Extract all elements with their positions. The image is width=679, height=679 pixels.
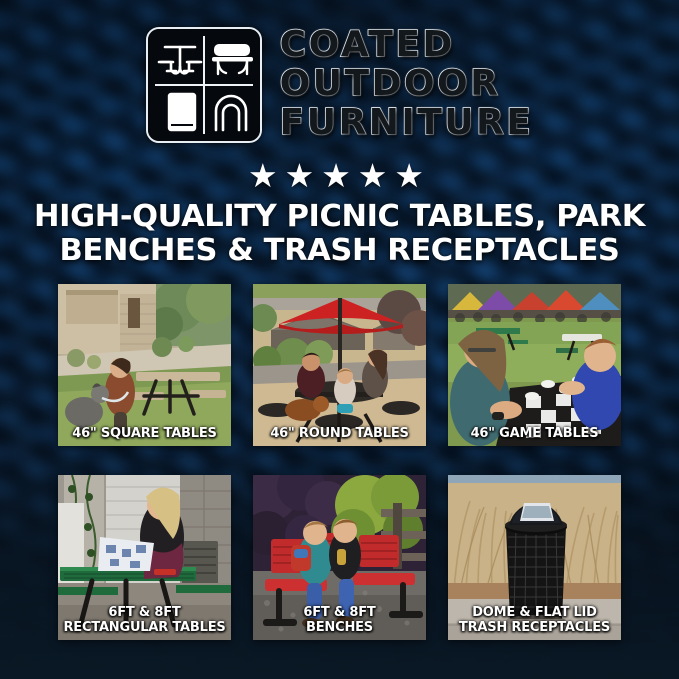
- brand-line-3: FURNITURE: [280, 104, 534, 142]
- caption-line-2: BENCHES: [255, 620, 424, 635]
- product-tile-game-tables[interactable]: 46" GAME TABLES: [448, 284, 621, 446]
- caption-line-1: 46" GAME TABLES: [450, 426, 619, 441]
- product-tile-grid: 46" SQUARE TABLES: [58, 284, 621, 640]
- brand-wordmark: COATED OUTDOOR FURNITURE: [280, 26, 534, 144]
- star-rating: ★★★★★: [0, 158, 679, 194]
- product-tile-trash-receptacles[interactable]: DOME & FLAT LID TRASH RECEPTACLES: [448, 475, 621, 640]
- caption-line-1: 6FT & 8FT: [255, 605, 424, 620]
- four-quadrant-logo-icon: [146, 27, 262, 143]
- product-tile-square-tables[interactable]: 46" SQUARE TABLES: [58, 284, 231, 446]
- caption-line-1: DOME & FLAT LID: [450, 605, 619, 620]
- caption-game-tables: 46" GAME TABLES: [450, 426, 619, 441]
- brand-line-2: OUTDOOR: [280, 65, 534, 103]
- caption-square-tables: 46" SQUARE TABLES: [60, 426, 229, 441]
- photo-game-tables: [448, 284, 621, 446]
- brand-line-1: COATED: [280, 26, 534, 64]
- caption-line-1: 46" SQUARE TABLES: [60, 426, 229, 441]
- headline: HIGH-QUALITY PICNIC TABLES, PARK BENCHES…: [22, 200, 657, 268]
- product-tile-benches[interactable]: 6FT & 8FT BENCHES: [253, 475, 426, 640]
- photo-square-tables: [58, 284, 231, 446]
- caption-line-1: 6FT & 8FT: [60, 605, 229, 620]
- brand-logo: COATED OUTDOOR FURNITURE: [0, 26, 679, 144]
- headline-line-1: HIGH-QUALITY PICNIC TABLES, PARK: [22, 200, 657, 234]
- caption-trash-receptacles: DOME & FLAT LID TRASH RECEPTACLES: [450, 605, 619, 635]
- caption-round-tables: 46" ROUND TABLES: [255, 426, 424, 441]
- product-tile-round-tables[interactable]: 46" ROUND TABLES: [253, 284, 426, 446]
- caption-line-2: RECTANGULAR TABLES: [60, 620, 229, 635]
- caption-rectangular-tables: 6FT & 8FT RECTANGULAR TABLES: [60, 605, 229, 635]
- product-tile-rectangular-tables[interactable]: 6FT & 8FT RECTANGULAR TABLES: [58, 475, 231, 640]
- promo-poster: COATED OUTDOOR FURNITURE ★★★★★ HIGH-QUAL…: [0, 0, 679, 679]
- photo-round-tables: [253, 284, 426, 446]
- headline-line-2: BENCHES & TRASH RECEPTACLES: [22, 234, 657, 268]
- caption-benches: 6FT & 8FT BENCHES: [255, 605, 424, 635]
- caption-line-1: 46" ROUND TABLES: [255, 426, 424, 441]
- caption-line-2: TRASH RECEPTACLES: [450, 620, 619, 635]
